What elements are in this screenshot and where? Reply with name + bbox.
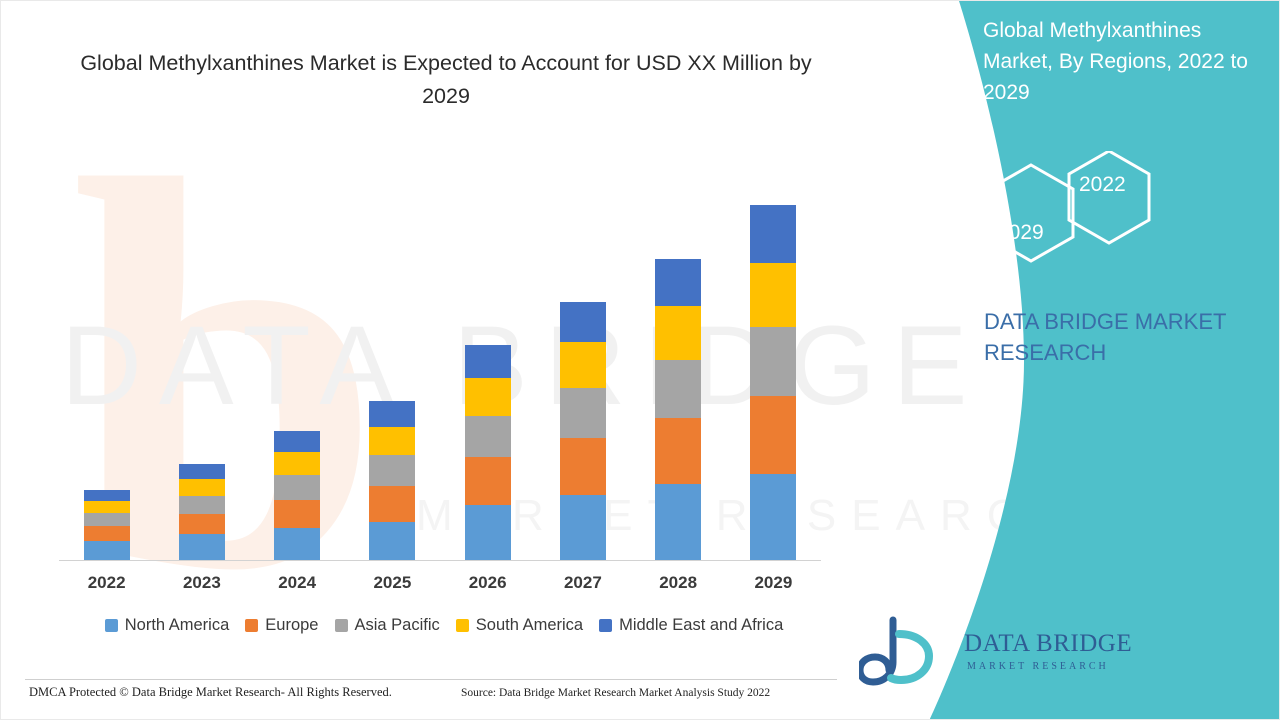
footer-copyright: DMCA Protected © Data Bridge Market Rese… [29, 685, 392, 700]
bar-segment [655, 306, 701, 360]
bar-segment [179, 534, 225, 560]
logo-tagline: MARKET RESEARCH [967, 661, 1109, 672]
bar-segment [465, 457, 511, 505]
bar-segment [274, 431, 320, 452]
right-panel: Global Methylxanthines Market, By Region… [839, 1, 1279, 720]
x-axis-labels: 20222023202420252026202720282029 [59, 573, 821, 593]
x-axis-label: 2029 [726, 573, 821, 593]
legend-item[interactable]: Middle East and Africa [599, 616, 783, 635]
bar-segment [84, 541, 130, 560]
x-axis-line [59, 560, 821, 561]
bar-column [726, 151, 821, 560]
stacked-bar[interactable] [750, 205, 796, 560]
legend-item[interactable]: Asia Pacific [335, 616, 440, 635]
bar-segment [179, 464, 225, 479]
bar-segment [274, 452, 320, 475]
bar-segment [179, 496, 225, 514]
hexagon-graphic: 2029 2022 [969, 151, 1269, 291]
chart-plot-area [59, 151, 821, 561]
bar-segment [84, 501, 130, 513]
data-bridge-logo-icon [859, 616, 959, 688]
bar-column [59, 151, 154, 560]
panel-brand-text: DATA BRIDGE MARKET RESEARCH [984, 306, 1264, 368]
legend-item[interactable]: North America [105, 616, 230, 635]
stacked-bar[interactable] [179, 464, 225, 560]
bar-segment [84, 490, 130, 501]
bar-segment [84, 513, 130, 526]
bar-column [345, 151, 440, 560]
bar-segment [465, 505, 511, 560]
bar-segment [369, 401, 415, 427]
bar-segment [560, 342, 606, 388]
legend-swatch-icon [599, 619, 612, 632]
legend-label: Middle East and Africa [619, 616, 783, 635]
bar-segment [465, 345, 511, 378]
bar-segment [750, 396, 796, 474]
legend-label: Europe [265, 616, 318, 635]
bar-segment [274, 500, 320, 528]
x-axis-label: 2026 [440, 573, 535, 593]
stacked-bar[interactable] [369, 401, 415, 560]
bar-segment [750, 205, 796, 263]
x-axis-label: 2024 [250, 573, 345, 593]
bar-segment [84, 526, 130, 541]
bar-segment [369, 427, 415, 455]
stacked-bar[interactable] [84, 490, 130, 560]
bar-segment [750, 474, 796, 560]
bar-segment [560, 388, 606, 438]
bar-segment [750, 263, 796, 327]
chart-title: Global Methylxanthines Market is Expecte… [61, 47, 831, 113]
stacked-bar[interactable] [465, 345, 511, 560]
bar-segment [655, 259, 701, 306]
x-axis-label: 2028 [631, 573, 726, 593]
legend-item[interactable]: South America [456, 616, 583, 635]
logo-name: DATA BRIDGE [964, 630, 1132, 658]
bar-column [154, 151, 249, 560]
legend-item[interactable]: Europe [245, 616, 318, 635]
x-axis-label: 2027 [535, 573, 630, 593]
bar-segment [274, 475, 320, 500]
bar-segment [560, 438, 606, 495]
bar-segment [369, 486, 415, 522]
panel-title: Global Methylxanthines Market, By Region… [983, 15, 1253, 108]
x-axis-label: 2025 [345, 573, 440, 593]
bar-segment [655, 418, 701, 484]
bar-segment [750, 327, 796, 396]
bar-group [59, 151, 821, 560]
footer-divider [25, 679, 837, 680]
chart-legend: North AmericaEuropeAsia PacificSouth Ame… [59, 616, 829, 635]
stacked-bar[interactable] [560, 302, 606, 560]
legend-label: South America [476, 616, 583, 635]
company-logo: DATA BRIDGE MARKET RESEARCH [859, 616, 1119, 696]
bar-column [631, 151, 726, 560]
x-axis-label: 2022 [59, 573, 154, 593]
bar-segment [179, 514, 225, 534]
bar-segment [179, 479, 225, 496]
bar-segment [560, 302, 606, 342]
hex-label-2029: 2029 [997, 221, 1044, 245]
bar-column [535, 151, 630, 560]
stacked-bar[interactable] [274, 431, 320, 560]
legend-swatch-icon [335, 619, 348, 632]
bar-segment [560, 495, 606, 560]
bar-column [250, 151, 345, 560]
bar-column [440, 151, 535, 560]
legend-label: Asia Pacific [355, 616, 440, 635]
hex-label-2022: 2022 [1079, 173, 1126, 197]
x-axis-label: 2023 [154, 573, 249, 593]
bar-segment [465, 378, 511, 416]
slide-canvas: b DATA BRIDGE MARKET RESEARCH Global Met… [0, 0, 1280, 720]
legend-label: North America [125, 616, 230, 635]
bar-segment [465, 416, 511, 457]
stacked-bar[interactable] [655, 259, 701, 560]
legend-swatch-icon [456, 619, 469, 632]
footer-source: Source: Data Bridge Market Research Mark… [461, 687, 770, 699]
bar-segment [274, 528, 320, 560]
bar-segment [369, 522, 415, 560]
bar-segment [655, 360, 701, 418]
legend-swatch-icon [245, 619, 258, 632]
legend-swatch-icon [105, 619, 118, 632]
bar-segment [369, 455, 415, 486]
bar-segment [655, 484, 701, 560]
